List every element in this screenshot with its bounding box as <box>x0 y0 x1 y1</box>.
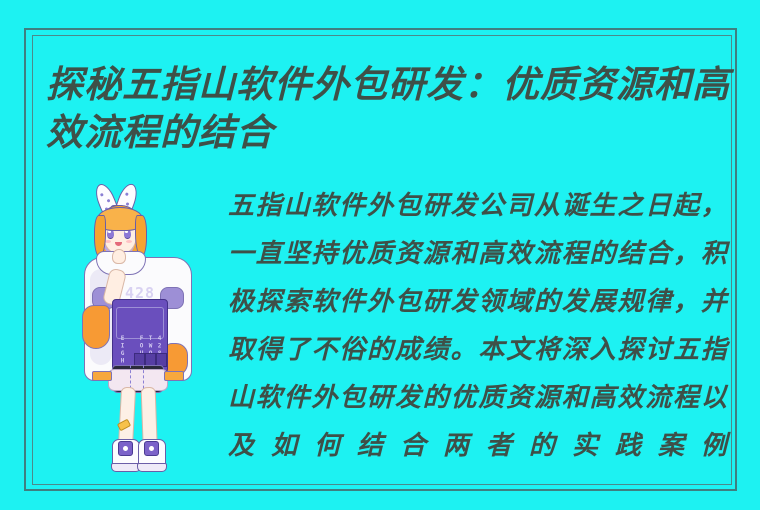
blush-left <box>105 240 111 243</box>
poster-title: 探秘五指山软件外包研发：优质资源和高效流程的结合 <box>46 60 736 156</box>
sneaker-tongue-right <box>144 441 159 456</box>
bag-number-label: 428 <box>114 284 166 302</box>
sneaker-tongue-left <box>118 441 133 456</box>
blush-right <box>126 240 132 243</box>
poster-body-text: 五指山软件外包研发公司从诞生之日起，一直坚持优质资源和高效流程的结合，积极探索软… <box>228 182 728 470</box>
belt-strap-left <box>92 371 112 381</box>
poster-canvas: 探秘五指山软件外包研发：优质资源和高效流程的结合 五指山软件外包研发公司从诞生之… <box>0 0 760 510</box>
sleeve-orange-left <box>82 305 110 349</box>
hand <box>112 249 126 264</box>
belt-strap-right <box>164 371 184 381</box>
sneaker-sole-right <box>137 463 167 472</box>
anime-girl-illustration: 428 EIGHT FOUR TWO 428 <box>72 183 202 473</box>
